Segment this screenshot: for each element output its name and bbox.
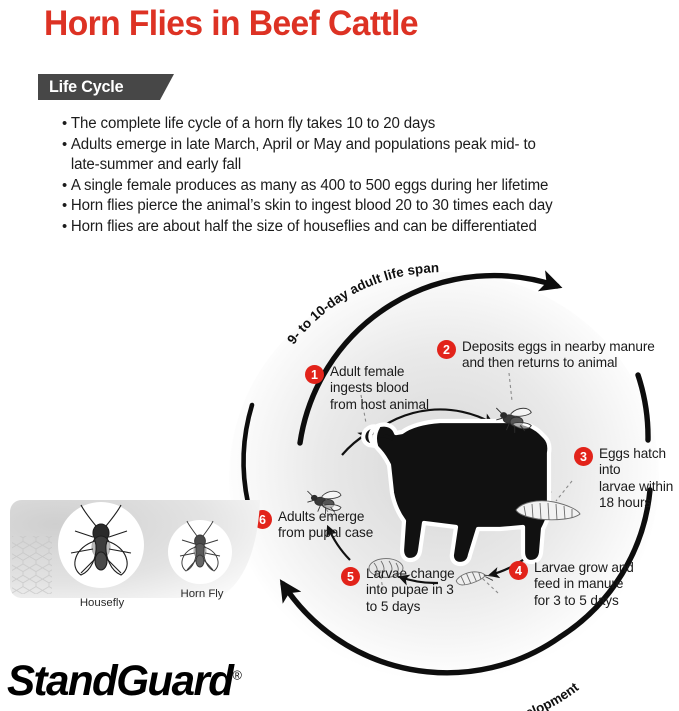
step-badge-3: 3 [574,447,593,466]
fly-size-comparison-panel: Housefly Horn Fly [10,500,282,616]
life-cycle-diagram: 9- to 10-day adult life span 10- to 11-d… [0,255,679,711]
page-title: Horn Flies in Beef Cattle [44,4,418,44]
list-item-text: Horn flies pierce the animal’s skin to i… [71,196,653,217]
housefly-label: Housefly [58,597,146,609]
list-item: • A single female produces as many as 40… [62,176,653,197]
list-item-text: A single female produces as many as 400 … [71,176,653,197]
step-badge-5: 5 [341,567,360,586]
hex-texture [12,536,52,594]
step-text-5: Larvae change into pupae in 3 to 5 days [366,566,455,615]
step-badge-1: 1 [305,365,324,384]
brand-name: StandGuard [7,657,232,705]
hornfly-label: Horn Fly [162,588,242,600]
step-callout-3: 3 Eggs hatch into larvae within 18 hours [574,446,679,512]
list-item-text: The complete life cycle of a horn fly ta… [71,114,653,135]
bullet-marker-icon: • [62,196,71,217]
step-text-4: Larvae grow and feed in manure for 3 to … [534,560,634,609]
step-callout-1: 1 Adult female ingests blood from host a… [305,364,429,413]
step-badge-2: 2 [437,340,456,359]
facts-bullet-list: • The complete life cycle of a horn fly … [62,114,662,237]
step-callout-4: 4 Larvae grow and feed in manure for 3 t… [509,560,634,609]
list-item: • Horn flies pierce the animal’s skin to… [62,196,653,217]
brand-logo: StandGuard® [7,657,242,706]
bullet-marker-icon: • [62,217,71,238]
section-tab-label: Life Cycle [49,77,123,97]
list-item: • The complete life cycle of a horn fly … [62,114,653,135]
bullet-marker-icon: • [62,176,71,197]
registered-trademark-icon: ® [232,668,241,683]
list-item-text: Adults emerge in late March, April or Ma… [71,135,653,176]
step-text-3: Eggs hatch into larvae within 18 hours [599,446,679,512]
step-badge-4: 4 [509,561,528,580]
step-text-1: Adult female ingests blood from host ani… [330,364,429,413]
step-callout-2: 2 Deposits eggs in nearby manure and the… [437,339,655,372]
list-item: • Horn flies are about half the size of … [62,217,653,238]
step-text-6: Adults emerge from pupal case [278,509,373,542]
bullet-marker-icon: • [62,135,71,156]
list-item: • Adults emerge in late March, April or … [62,135,653,176]
step-callout-5: 5 Larvae change into pupae in 3 to 5 day… [341,566,455,615]
step-text-2: Deposits eggs in nearby manure and then … [462,339,655,372]
list-item-text: Horn flies are about half the size of ho… [71,217,653,238]
bullet-marker-icon: • [62,114,71,135]
